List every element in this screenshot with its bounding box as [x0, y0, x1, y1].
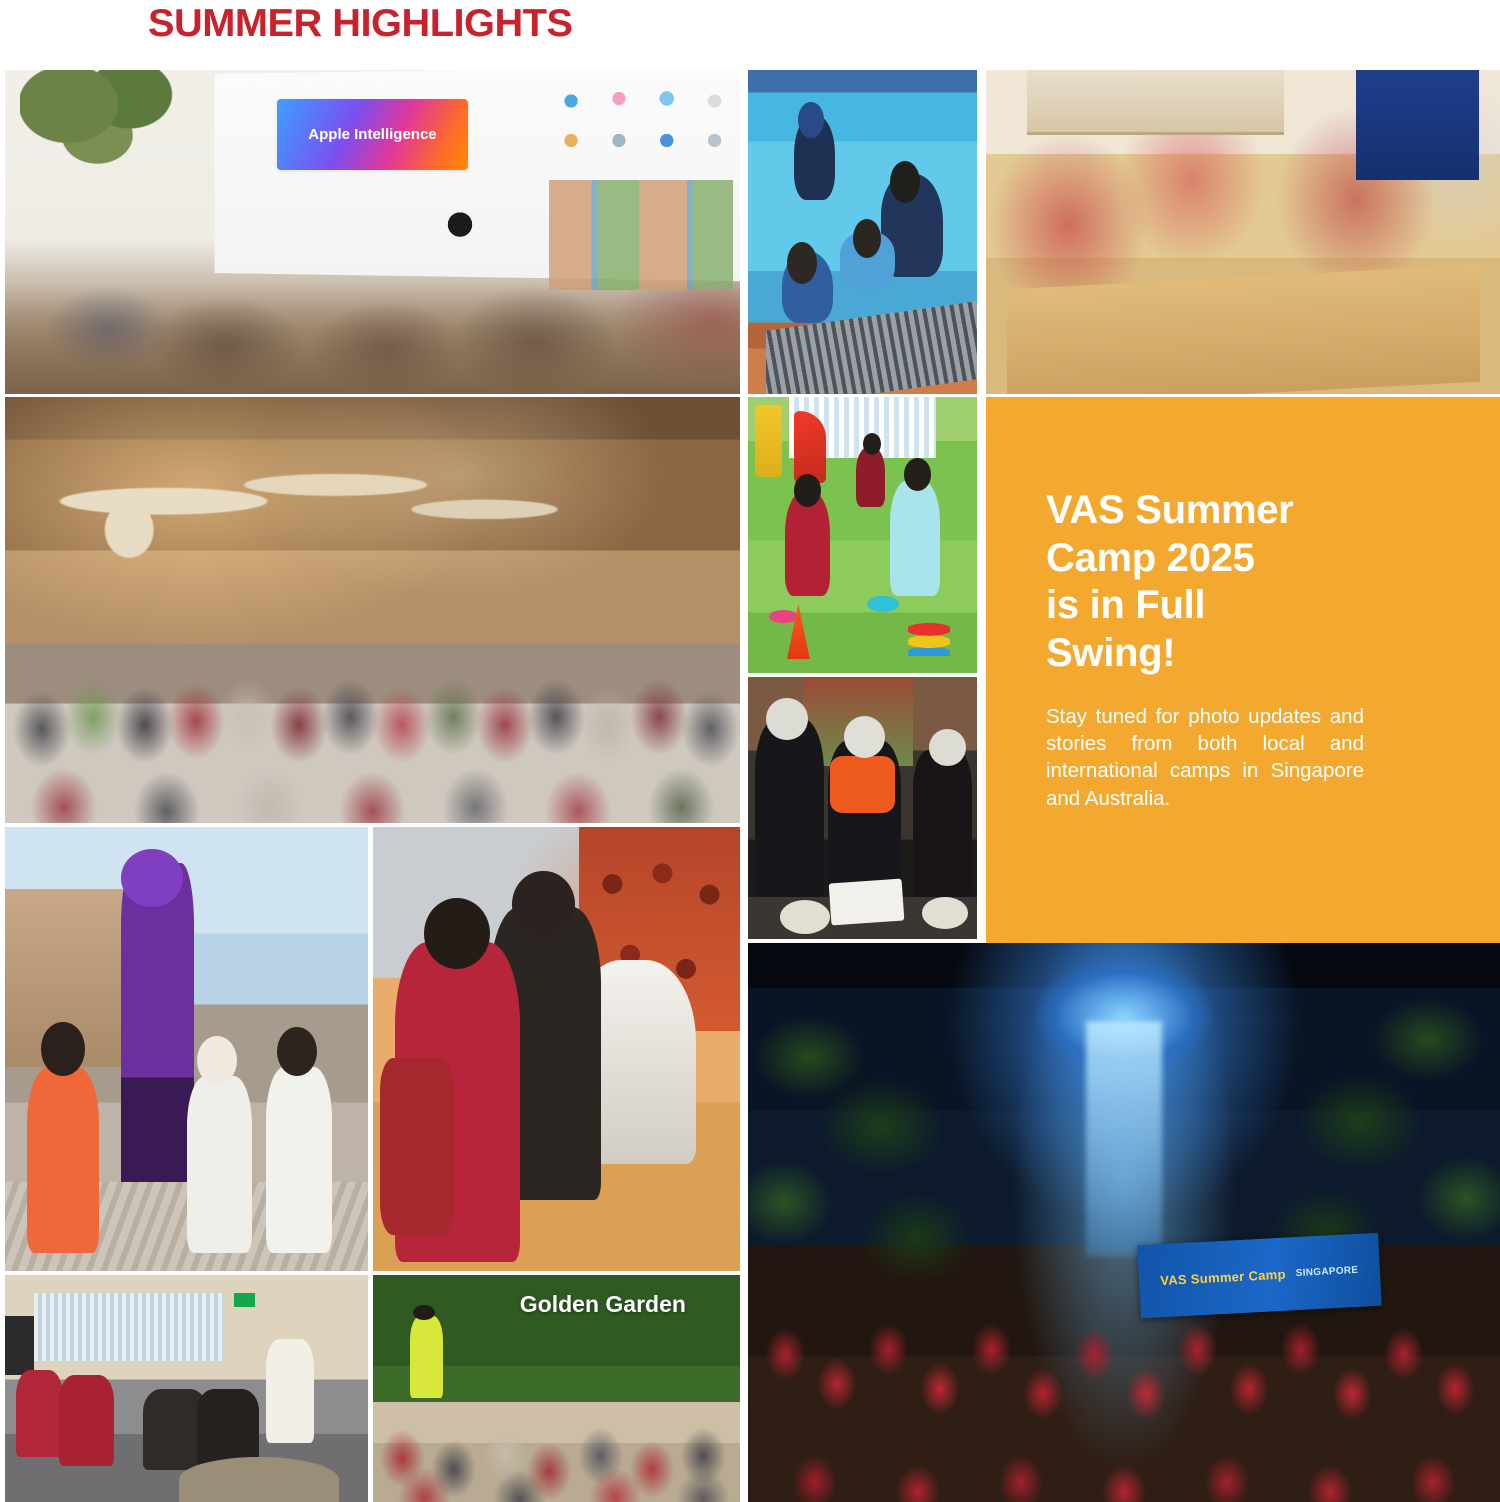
decor-plate: [780, 900, 830, 934]
decor-child: [266, 1067, 331, 1253]
decor-child: [856, 447, 886, 508]
photo-dinosaur-museum-image: [5, 397, 740, 823]
decor-tree: [20, 70, 182, 206]
decor-swimmer-head: [787, 242, 817, 284]
decor-slide: [794, 411, 826, 483]
decor-window-blinds: [34, 1293, 223, 1361]
decor-waterfall: [1086, 1021, 1161, 1256]
decor-student-head: [512, 871, 574, 938]
decor-child-head: [197, 1036, 237, 1085]
decor-child-head: [863, 433, 881, 455]
decor-child-head: [41, 1022, 85, 1075]
photo-jewel-night-image: VAS Summer Camp SINGAPORE: [748, 943, 1500, 1502]
photo-apple-store: Apple Intelligence: [5, 70, 740, 394]
decor-student: [197, 1389, 259, 1466]
decor-round-table: [179, 1457, 339, 1502]
decor-student: [913, 750, 973, 897]
decor-seating: [5, 284, 740, 394]
photo-microscope-lab: [373, 827, 740, 1271]
photo-golden-garden-image: Golden Garden: [373, 1275, 740, 1502]
decor-child: [187, 1076, 252, 1254]
decor-guide: [410, 1316, 443, 1398]
callout-heading: VAS Summer Camp 2025 is in Full Swing!: [1046, 487, 1445, 677]
apple-logo-icon: [446, 206, 474, 238]
photo-kindergarten-craft-image: [986, 70, 1500, 394]
decor-plate: [922, 897, 968, 928]
photo-theme-park-image: [5, 827, 368, 1271]
photo-kindergarten-craft: [986, 70, 1500, 394]
decor-stilt-walker-head: [121, 849, 183, 907]
decor-cutting-board: [829, 879, 905, 926]
decor-child: [27, 1067, 100, 1253]
decor-student-group: [5, 627, 740, 823]
decor-student: [16, 1370, 63, 1456]
page-title: SUMMER HIGHLIGHTS: [148, 0, 572, 48]
photo-playground-games: [748, 397, 977, 673]
photo-swimming-pool: [748, 70, 977, 394]
callout-body: Stay tuned for photo updates and stories…: [1046, 703, 1364, 811]
decor-teacher: [266, 1339, 313, 1443]
decor-student-group: [373, 1393, 740, 1502]
decor-child: [890, 480, 940, 596]
page-header: SUMMER HIGHLIGHTS: [0, 0, 1500, 70]
exit-sign-icon: [234, 1293, 256, 1307]
photo-dinosaur-museum: [5, 397, 740, 823]
decor-hairnet: [929, 729, 966, 766]
photo-golden-garden: Golden Garden: [373, 1275, 740, 1502]
photo-meeting-room-image: [5, 1275, 368, 1502]
apple-intelligence-banner: Apple Intelligence: [277, 99, 468, 170]
decor-child-head: [904, 458, 931, 491]
decor-hairnet: [766, 698, 807, 740]
decor-swimmer-head: [853, 219, 880, 258]
decor-display-screen: [5, 1316, 34, 1375]
decor-emoji-grid: [549, 80, 733, 164]
decor-stilt-walker: [121, 863, 194, 1209]
photo-cooking-class: [748, 677, 977, 939]
callout-panel: VAS Summer Camp 2025 is in Full Swing! S…: [986, 397, 1500, 1005]
decor-table: [1007, 265, 1480, 394]
decor-marker-disc: [769, 610, 799, 624]
decor-orange-shirt: [830, 756, 894, 814]
decor-photo-grid: [549, 180, 733, 290]
photo-cooking-class-image: [748, 677, 977, 939]
photo-jewel-night: VAS Summer Camp SINGAPORE: [748, 943, 1500, 1502]
photo-theme-park: [5, 827, 368, 1271]
photo-swimming-pool-image: [748, 70, 977, 394]
photo-collage: Apple Intelligence: [0, 70, 1500, 1502]
decor-blue-panel: [1356, 70, 1479, 180]
decor-marker-disc: [867, 596, 899, 613]
photo-meeting-room: [5, 1275, 368, 1502]
decor-child-head: [277, 1027, 317, 1076]
decor-student-group: [756, 1256, 1493, 1502]
decor-rings: [908, 618, 949, 657]
decor-backpack: [380, 1058, 453, 1236]
decor-instructor-head: [890, 161, 920, 203]
photo-playground-games-image: [748, 397, 977, 673]
photo-microscope-lab-image: [373, 827, 740, 1271]
golden-garden-sign: Golden Garden: [520, 1293, 726, 1338]
decor-student: [59, 1375, 113, 1466]
decor-swimmer-head: [798, 102, 823, 138]
decor-student: [755, 719, 824, 897]
decor-climbing-frame: [755, 405, 782, 477]
decor-dinosaur-skeleton: [49, 440, 622, 644]
photo-apple-store-image: Apple Intelligence: [5, 70, 740, 394]
decor-student-head: [424, 898, 490, 969]
decor-shelf: [1027, 70, 1284, 135]
